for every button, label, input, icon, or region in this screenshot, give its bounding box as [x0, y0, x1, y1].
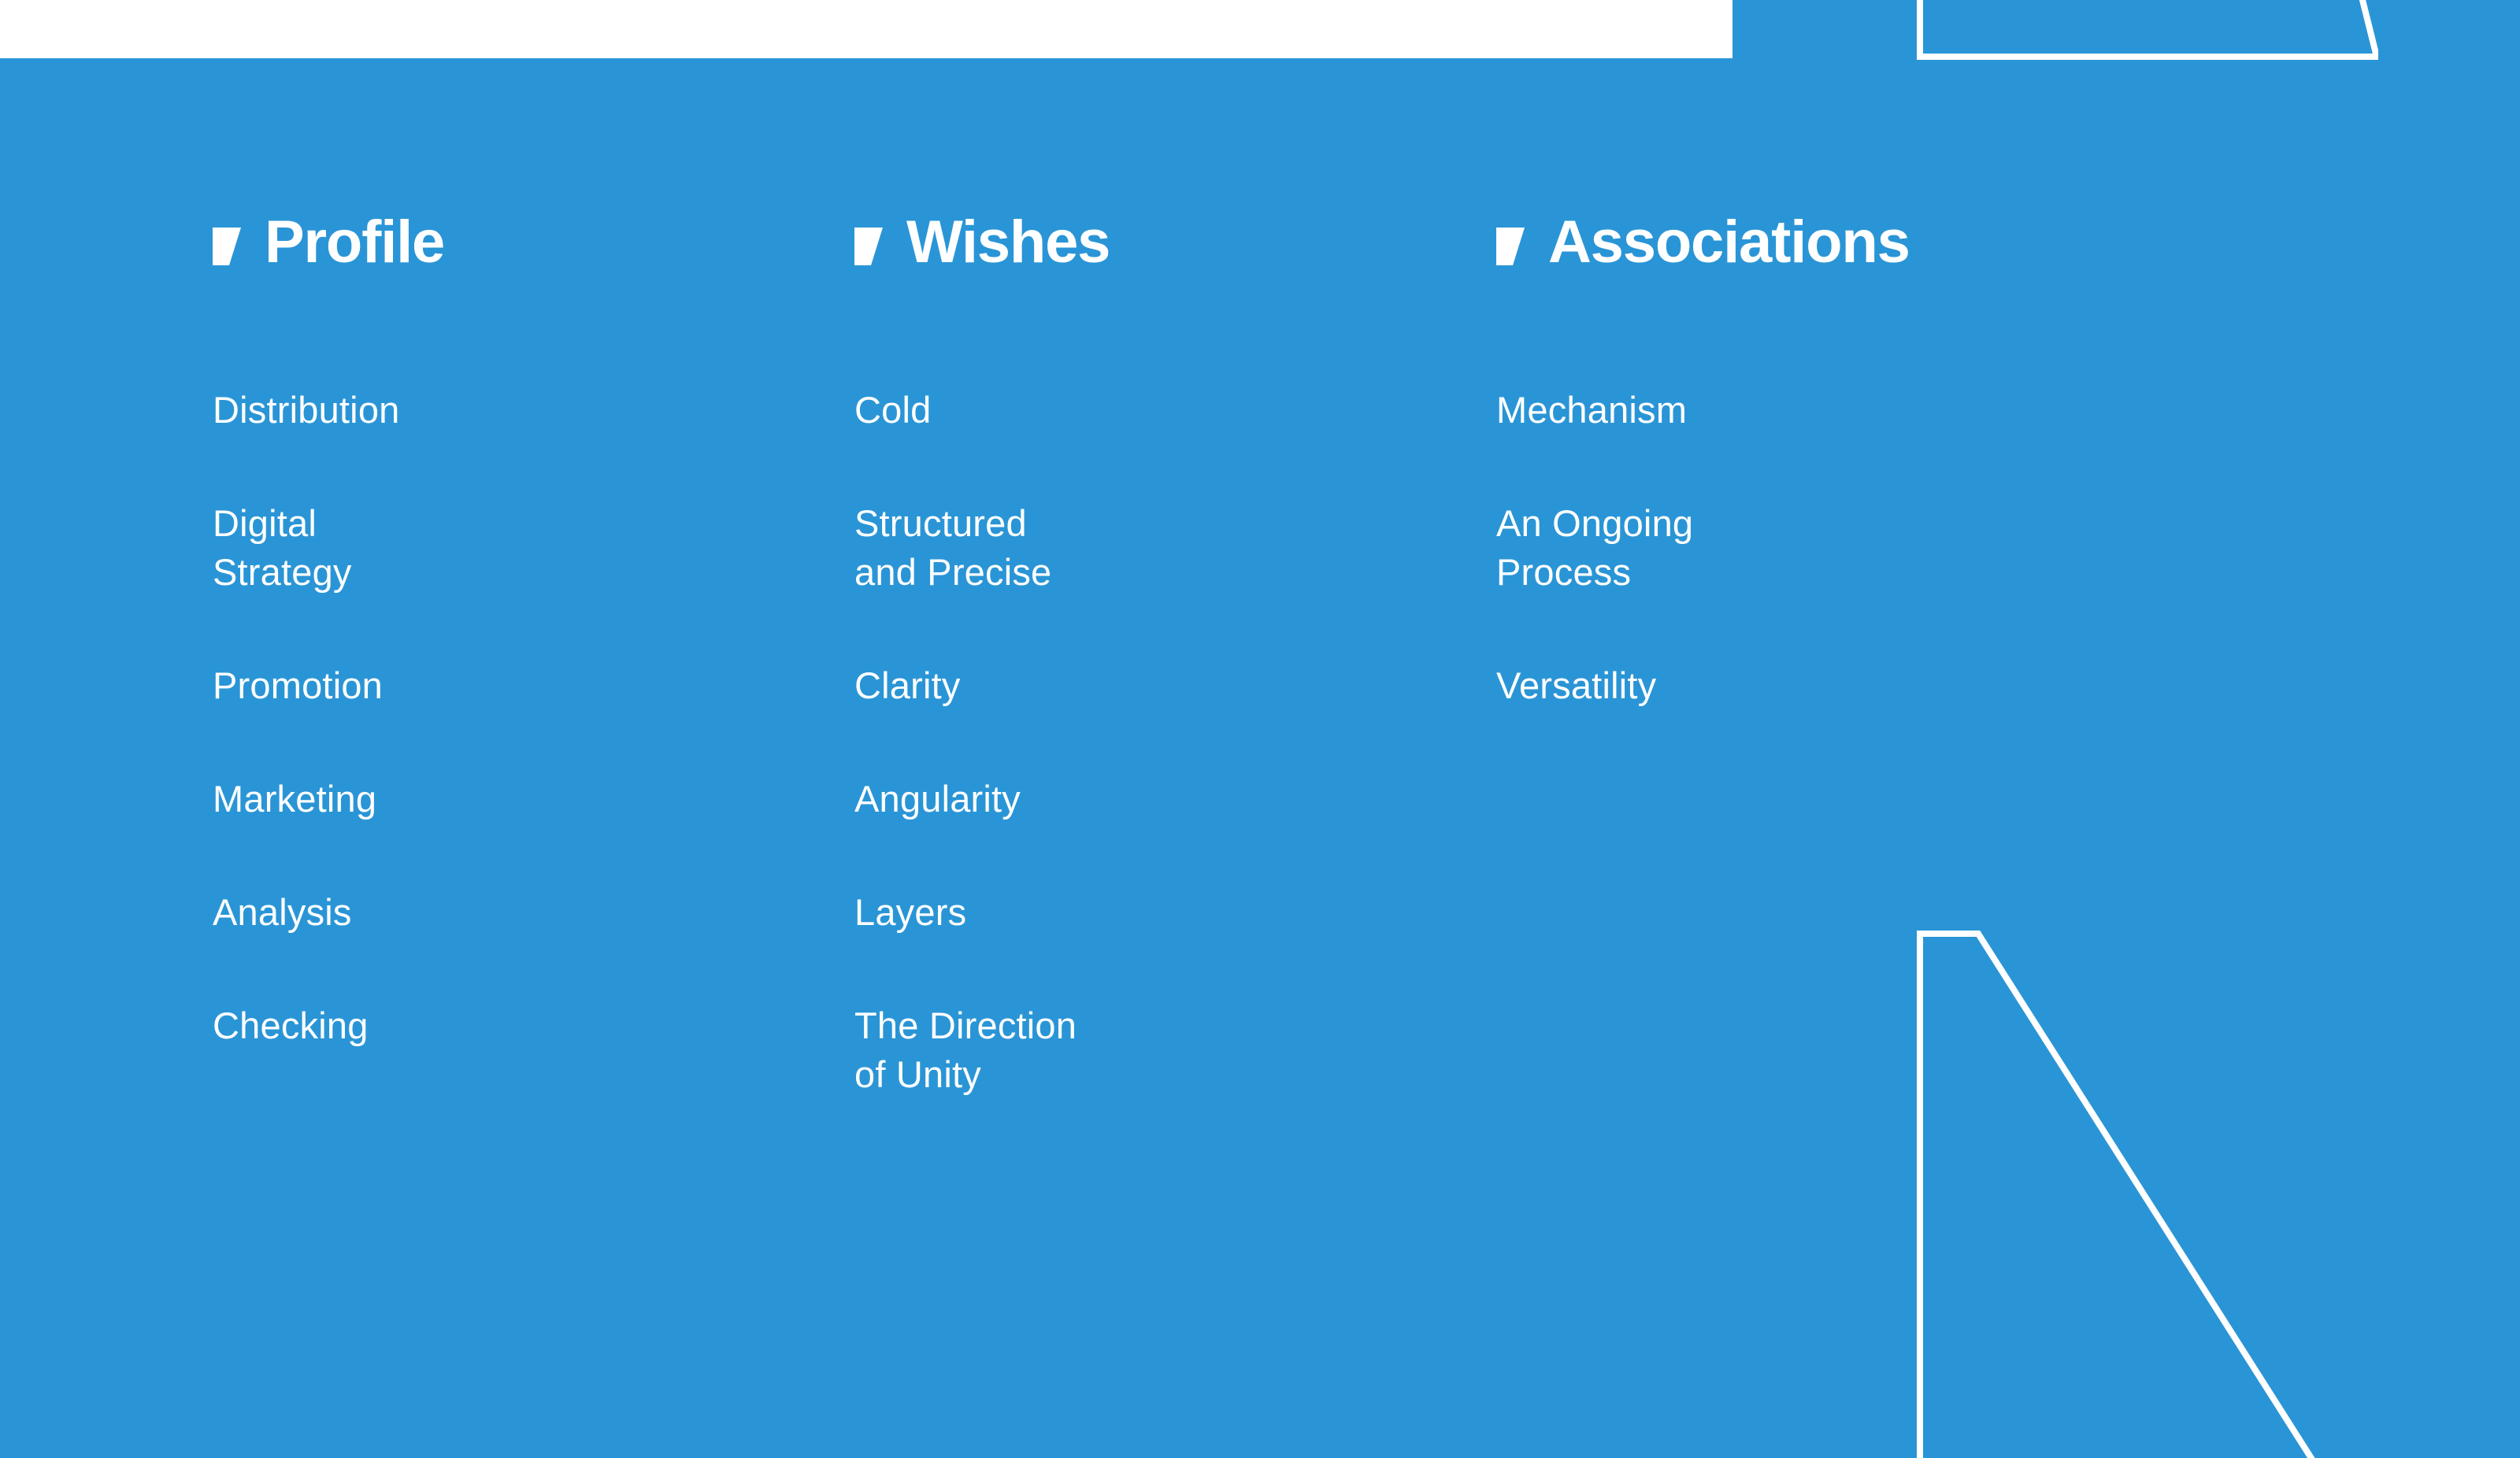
list-item: Checking [213, 1001, 854, 1050]
list-item: Marketing [213, 775, 854, 823]
trapezoid-marker-icon [1496, 228, 1525, 265]
column-list: Mechanism An Ongoing Process Versatility [1496, 386, 2138, 710]
list-item: An Ongoing Process [1496, 499, 2138, 597]
slide-canvas: Profile Distribution Digital Strategy Pr… [0, 0, 2520, 1458]
top-right-outline-shape [1890, 0, 2378, 126]
column-list: Cold Structured and Precise Clarity Angu… [854, 386, 1496, 1099]
column-heading-label: Profile [265, 213, 444, 272]
list-item: Structured and Precise [854, 499, 1496, 597]
trapezoid-marker-icon [213, 228, 241, 265]
columns-container: Profile Distribution Digital Strategy Pr… [213, 213, 2339, 1099]
column-wishes: Wishes Cold Structured and Precise Clari… [854, 213, 1496, 1099]
column-profile: Profile Distribution Digital Strategy Pr… [213, 213, 854, 1099]
list-item: Cold [854, 386, 1496, 435]
column-heading-label: Associations [1548, 213, 1910, 272]
list-item: Versatility [1496, 661, 2138, 710]
list-item: Digital Strategy [213, 499, 854, 597]
column-heading-label: Wishes [906, 213, 1110, 272]
list-item: The Direction of Unity [854, 1001, 1496, 1099]
column-heading: Wishes [854, 213, 1496, 301]
list-item: Distribution [213, 386, 854, 435]
column-heading: Profile [213, 213, 854, 301]
column-list: Distribution Digital Strategy Promotion … [213, 386, 854, 1050]
column-associations: Associations Mechanism An Ongoing Proces… [1496, 213, 2138, 1099]
list-item: Promotion [213, 661, 854, 710]
column-heading: Associations [1496, 213, 2138, 301]
list-item: Angularity [854, 775, 1496, 823]
list-item: Clarity [854, 661, 1496, 710]
top-white-banner [0, 0, 1732, 58]
list-item: Analysis [213, 888, 854, 937]
list-item: Layers [854, 888, 1496, 937]
trapezoid-marker-icon [854, 228, 883, 265]
list-item: Mechanism [1496, 386, 2138, 435]
